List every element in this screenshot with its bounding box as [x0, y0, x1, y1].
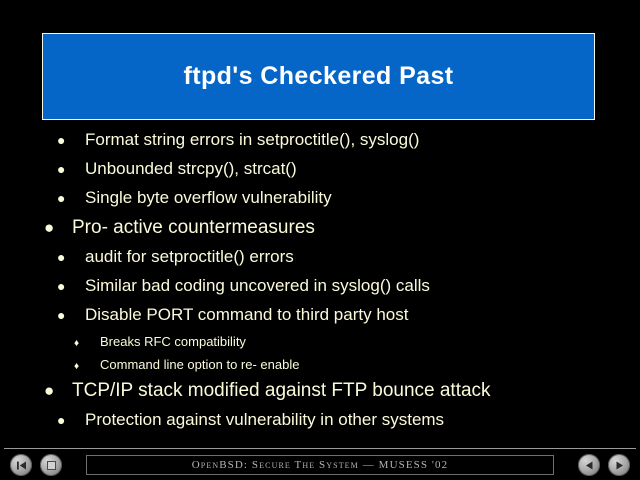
index-button[interactable] — [40, 454, 62, 476]
list-item: ♦ Breaks RFC compatibility — [0, 334, 640, 357]
list-item-label: Protection against vulnerability in othe… — [85, 410, 444, 430]
slide-body-list: ● Format string errors in setproctitle()… — [0, 130, 640, 439]
stop-square-icon — [46, 460, 57, 471]
page-title: ftpd's Checkered Past — [184, 62, 454, 91]
bullet-dot-icon: ● — [57, 308, 85, 322]
list-item-label: Disable PORT command to third party host — [85, 305, 408, 325]
list-item: ♦ Command line option to re- enable — [0, 357, 640, 380]
list-item-label: Pro- active countermeasures — [72, 217, 315, 239]
bullet-dot-icon: ● — [44, 219, 72, 236]
list-item: ● Format string errors in setproctitle()… — [0, 130, 640, 159]
bullet-dot-icon: ● — [44, 382, 72, 399]
list-item-label: TCP/IP stack modified against FTP bounce… — [72, 380, 491, 402]
list-item: ● audit for setproctitle() errors — [0, 247, 640, 276]
list-item: ● Protection against vulnerability in ot… — [0, 410, 640, 439]
list-item: ● TCP/IP stack modified against FTP boun… — [0, 380, 640, 410]
next-slide-button[interactable] — [608, 454, 630, 476]
list-item-label: Similar bad coding uncovered in syslog()… — [85, 276, 430, 296]
list-item-label: Command line option to re- enable — [100, 357, 299, 372]
list-item: ● Unbounded strcpy(), strcat() — [0, 159, 640, 188]
bullet-diamond-icon: ♦ — [74, 339, 100, 349]
first-slide-button[interactable] — [10, 454, 32, 476]
list-item-label: audit for setproctitle() errors — [85, 247, 294, 267]
previous-slide-icon — [584, 460, 595, 471]
footer-caption: OpenBSD: Secure The System — MUSESS '02 — [192, 459, 448, 471]
list-item: ● Disable PORT command to third party ho… — [0, 305, 640, 334]
bullet-dot-icon: ● — [57, 279, 85, 293]
slide-canvas: ftpd's Checkered Past ● Format string er… — [0, 0, 640, 480]
bullet-dot-icon: ● — [57, 250, 85, 264]
list-item-label: Single byte overflow vulnerability — [85, 188, 332, 208]
list-item: ● Similar bad coding uncovered in syslog… — [0, 276, 640, 305]
footer-navigation-bar: OpenBSD: Secure The System — MUSESS '02 — [0, 450, 640, 480]
slide-title-banner: ftpd's Checkered Past — [42, 33, 595, 120]
list-item-label: Format string errors in setproctitle(), … — [85, 130, 419, 150]
footer-divider — [4, 448, 636, 449]
footer-caption-box: OpenBSD: Secure The System — MUSESS '02 — [86, 455, 554, 475]
previous-slide-button[interactable] — [578, 454, 600, 476]
bullet-dot-icon: ● — [57, 413, 85, 427]
list-item-label: Unbounded strcpy(), strcat() — [85, 159, 297, 179]
next-slide-icon — [614, 460, 625, 471]
bullet-dot-icon: ● — [57, 162, 85, 176]
bullet-dot-icon: ● — [57, 191, 85, 205]
bullet-dot-icon: ● — [57, 133, 85, 147]
list-item: ● Single byte overflow vulnerability — [0, 188, 640, 217]
list-item: ● Pro- active countermeasures — [0, 217, 640, 247]
list-item-label: Breaks RFC compatibility — [100, 334, 246, 349]
bullet-diamond-icon: ♦ — [74, 362, 100, 372]
first-slide-icon — [16, 460, 27, 471]
